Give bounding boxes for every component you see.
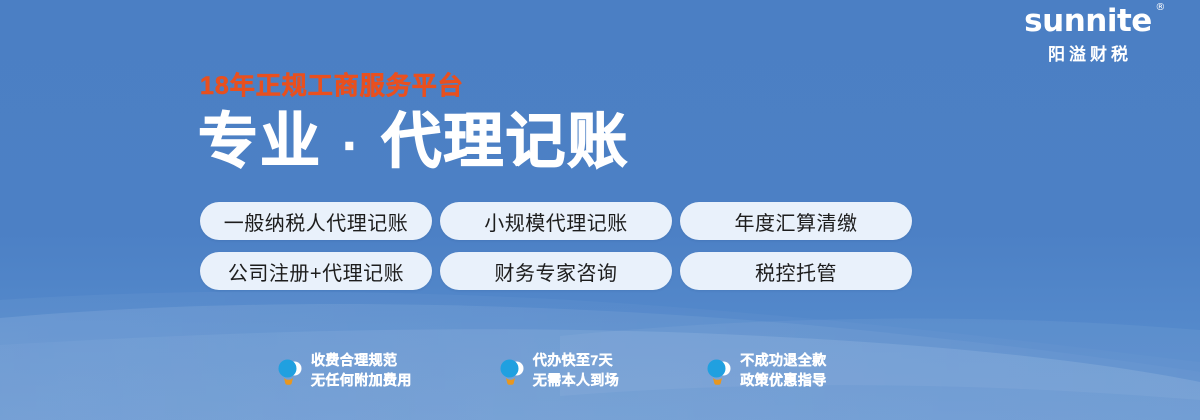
feature-line-2: 无任何附加费用 [311,372,412,389]
moon-circle-icon [705,355,731,385]
logo-chinese-name: 阳溢财税 [998,46,1178,63]
feature-item: 收费合理规范 无任何附加费用 [276,352,412,388]
moon-circle-icon [498,355,524,385]
service-pill[interactable]: 一般纳税人代理记账 [200,202,432,240]
feature-strip: 收费合理规范 无任何附加费用 代办快至7天 无需本人到场 [276,352,827,388]
service-pill[interactable]: 财务专家咨询 [440,252,672,290]
service-pill[interactable]: 公司注册+代理记账 [200,252,432,290]
feature-line-2: 政策优惠指导 [740,372,826,389]
page-title: 专业 · 代理记账 [198,112,629,172]
feature-text: 收费合理规范 无任何附加费用 [311,352,412,388]
feature-line-1: 收费合理规范 [311,352,412,369]
registered-trademark-icon: ® [1155,3,1165,13]
brand-logo[interactable]: sunnite ® 阳溢财税 [998,6,1178,63]
feature-line-1: 不成功退全款 [740,352,826,369]
feature-line-1: 代办快至7天 [533,352,619,369]
service-pill[interactable]: 税控托管 [680,252,912,290]
promo-banner: sunnite ® 阳溢财税 18年正规工商服务平台 专业 · 代理记账 一般纳… [0,0,1200,420]
hero-kicker: 18年正规工商服务平台 [200,74,464,99]
feature-item: 代办快至7天 无需本人到场 [498,352,619,388]
hero-title-separator: · [341,120,363,173]
logo-wordmark: sunnite ® [1024,6,1152,37]
hero-title-left: 专业 [198,108,322,175]
service-pill[interactable]: 小规模代理记账 [440,202,672,240]
feature-text: 代办快至7天 无需本人到场 [533,352,619,388]
hero-title-right: 代理记账 [381,108,629,175]
moon-circle-icon [276,355,302,385]
service-pill[interactable]: 年度汇算清缴 [680,202,912,240]
feature-line-2: 无需本人到场 [533,372,619,389]
feature-item: 不成功退全款 政策优惠指导 [705,352,826,388]
feature-text: 不成功退全款 政策优惠指导 [740,352,826,388]
service-pill-grid: 一般纳税人代理记账 小规模代理记账 年度汇算清缴 公司注册+代理记账 财务专家咨… [200,202,912,290]
logo-wordmark-text: sunnite [1024,3,1152,39]
